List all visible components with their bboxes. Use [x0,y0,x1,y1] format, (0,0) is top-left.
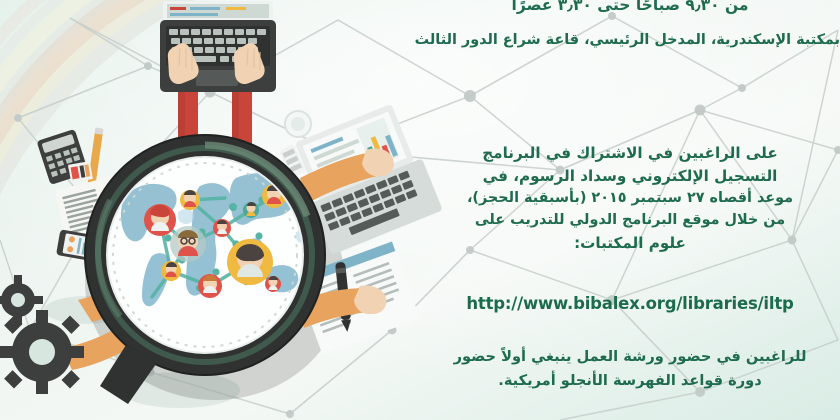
registration-line-5: علوم المكتبات: [420,232,840,255]
schedule-venue-line: بمكتبة الإسكندرية، المدخل الرئيسي، قاعة … [420,30,840,50]
registration-block: على الراغبين في الاشتراك في البرنامج الت… [420,142,840,255]
gear-icon [0,310,84,394]
registration-link-block[interactable]: http://www.bibalex.org/libraries/iltp [420,292,840,315]
prerequisite-line-2: دورة قواعد الفهرسة الأنجلو أمريكية. [420,369,840,393]
registration-line-1: على الراغبين في الاشتراك في البرنامج [420,142,840,165]
registration-line-4: من خلال موقع البرنامج الدولي للتدريب على [420,210,840,232]
avatar [198,274,222,298]
poster-canvas: من ٩٫٣٠ صباحًا حتى ٣٫٣٠ عصرًا من ٩٫٣٠ صب… [0,0,840,420]
registration-line-3: موعد أقصاه ٢٧ سبتمبر ٢٠١٥ (بأسبقية الحجز… [420,188,840,210]
avatar [243,202,259,218]
avatar [144,204,176,236]
avatar [265,276,281,292]
avatar [161,261,181,281]
avatar [213,219,231,237]
sticky-notes-icon [68,161,93,183]
prerequisite-block: للراغبين في حضور ورشة العمل ينبغي أولاً … [420,345,840,392]
text-column: من ٩٫٣٠ صباحًا حتى ٣٫٣٠ عصرًا بمكتبة الإ… [420,0,840,420]
schedule-time-line: من ٩٫٣٠ صباحًا حتى ٣٫٣٠ عصرًا [420,0,840,16]
schedule-time-block: من ٩٫٣٠ صباحًا حتى ٣٫٣٠ عصرًا [420,0,840,16]
schedule-venue-block: بمكتبة الإسكندرية، المدخل الرئيسي، قاعة … [420,30,840,50]
avatar [227,239,273,285]
avatar [170,226,206,262]
prerequisite-line-1: للراغبين في حضور ورشة العمل ينبغي أولاً … [420,345,840,369]
registration-line-2: التسجيل الإلكتروني وسداد الرسوم، في [420,165,840,188]
registration-url-link[interactable]: http://www.bibalex.org/libraries/iltp [420,292,840,315]
coffee-cup-icon [285,111,311,137]
avatar [180,190,200,210]
